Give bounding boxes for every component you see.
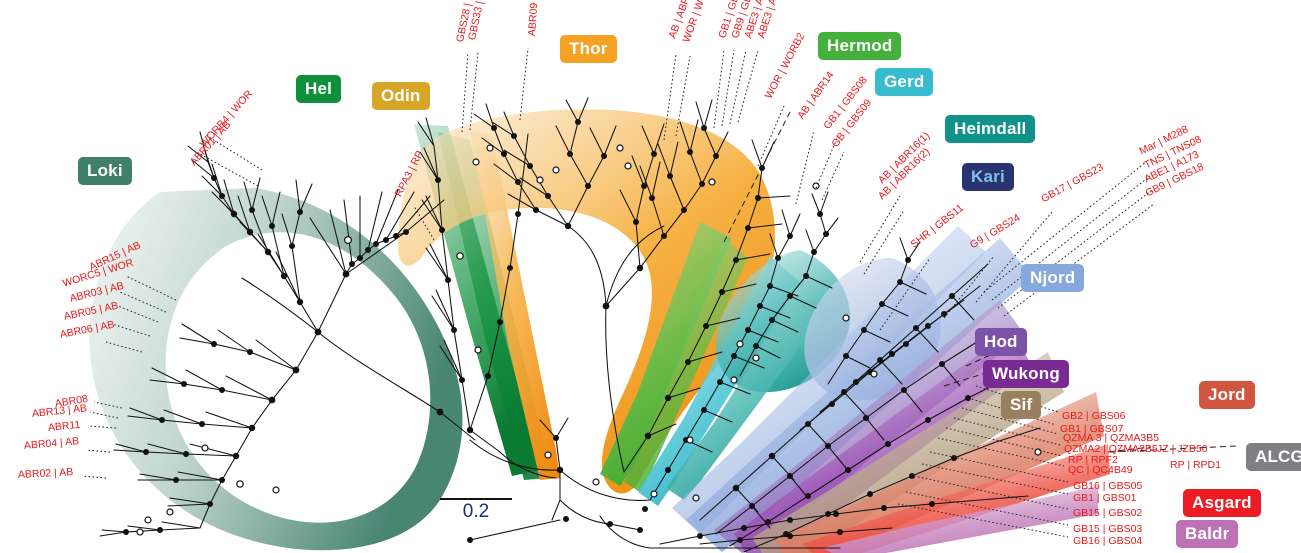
taxon-label: GB16 | GBS04 bbox=[1073, 535, 1142, 547]
taxon-label: QC | QC4B49 bbox=[1068, 464, 1133, 476]
clade-label-hod[interactable]: Hod bbox=[975, 328, 1027, 356]
clade-label-hermod[interactable]: Hermod bbox=[818, 32, 901, 60]
taxon-label: GB16 | GBS05 bbox=[1073, 480, 1142, 492]
scale-bar-line bbox=[440, 498, 512, 500]
clade-label-hel[interactable]: Hel bbox=[296, 75, 341, 103]
taxon-label: GB15 | GBS03 bbox=[1073, 523, 1142, 535]
taxon-label: GB15 | GBS02 bbox=[1073, 507, 1142, 519]
clade-label-odin[interactable]: Odin bbox=[372, 82, 430, 110]
clade-label-sif[interactable]: Sif bbox=[1001, 391, 1041, 419]
clade-label-wukong[interactable]: Wukong bbox=[983, 360, 1069, 388]
taxon-label: GB2 | GBS06 bbox=[1062, 410, 1125, 422]
clade-label-jord[interactable]: Jord bbox=[1199, 381, 1255, 409]
clade-label-loki[interactable]: Loki bbox=[78, 157, 132, 185]
clade-label-thor[interactable]: Thor bbox=[560, 35, 617, 63]
phylogenetic-tree-figure: LokiHelOdinThorHermodGerdHeimdallKariNjo… bbox=[0, 0, 1301, 553]
clade-label-njord[interactable]: Njord bbox=[1021, 264, 1084, 292]
taxon-label: JZ | JZB50 bbox=[1157, 443, 1208, 455]
clade-label-kari[interactable]: Kari bbox=[962, 163, 1014, 191]
clade-label-asgard[interactable]: Asgard bbox=[1183, 489, 1261, 517]
taxon-label: GB1 | GBS01 bbox=[1073, 492, 1136, 504]
clade-label-alcg[interactable]: ALCG bbox=[1246, 443, 1301, 471]
clade-label-baldr[interactable]: Baldr bbox=[1176, 520, 1238, 548]
scale-bar-label: 0.2 bbox=[463, 501, 489, 522]
scale-bar: 0.2 bbox=[440, 498, 512, 523]
taxon-label: RP | RPD1 bbox=[1170, 459, 1221, 471]
clade-label-heimdall[interactable]: Heimdall bbox=[945, 115, 1035, 143]
clade-label-gerd[interactable]: Gerd bbox=[875, 68, 933, 96]
